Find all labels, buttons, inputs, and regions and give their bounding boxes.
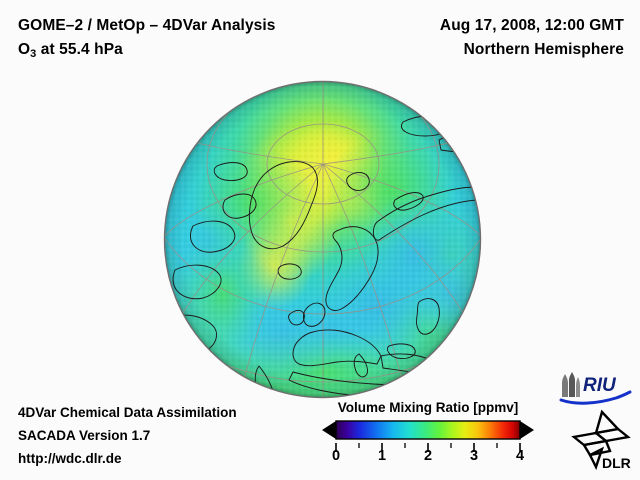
colorbar-gradient xyxy=(336,421,520,439)
colorbar: Volume Mixing Ratio [ppmv] 01234 xyxy=(310,400,546,472)
page-title: GOME–2 / MetOp – 4DVar Analysis xyxy=(18,14,276,38)
footer-line-url[interactable]: http://wdc.dlr.de xyxy=(18,447,237,470)
colorbar-high-arrow xyxy=(520,421,534,439)
colorbar-low-arrow xyxy=(322,421,336,439)
coast-arabia xyxy=(451,372,482,397)
globe-svg xyxy=(163,80,482,399)
footer-line-version: SACADA Version 1.7 xyxy=(18,424,237,447)
dlr-wordmark: DLR xyxy=(602,455,631,471)
header-right-block: Aug 17, 2008, 12:00 GMT Northern Hemisph… xyxy=(440,14,624,62)
riu-wordmark: RIU xyxy=(583,375,617,396)
footer-attribution-block: 4DVar Chemical Data Assimilation SACADA … xyxy=(18,401,237,471)
dlr-logo: DLR xyxy=(566,409,634,471)
datetime-label: Aug 17, 2008, 12:00 GMT xyxy=(440,14,624,38)
colorbar-title: Volume Mixing Ratio [ppmv] xyxy=(310,400,546,415)
colorbar-tick-labels: 01234 xyxy=(310,448,546,470)
colorbar-bar-area xyxy=(310,419,546,441)
riu-logo-svg: RIU xyxy=(556,371,634,405)
header-left-block: GOME–2 / MetOp – 4DVar Analysis O3 at 55… xyxy=(18,14,276,63)
ozone-globe-map xyxy=(163,80,482,399)
riu-towers-icon xyxy=(562,372,580,397)
species-level-suffix: at 55.4 hPa xyxy=(36,41,123,58)
colorbar-tick-label: 4 xyxy=(516,448,524,464)
region-label: Northern Hemisphere xyxy=(440,38,624,62)
colorbar-tick-label: 2 xyxy=(424,448,432,464)
colorbar-tick-label: 3 xyxy=(470,448,478,464)
colorbar-tick-label: 1 xyxy=(378,448,386,464)
colorbar-tick-label: 0 xyxy=(332,448,340,464)
dlr-logo-svg: DLR xyxy=(566,409,634,471)
species-level-label: O3 at 55.4 hPa xyxy=(18,38,276,63)
riu-logo: RIU xyxy=(556,371,634,405)
species-formula-prefix: O xyxy=(18,41,30,58)
footer-line-method: 4DVar Chemical Data Assimilation xyxy=(18,401,237,424)
colorbar-svg xyxy=(310,419,546,441)
